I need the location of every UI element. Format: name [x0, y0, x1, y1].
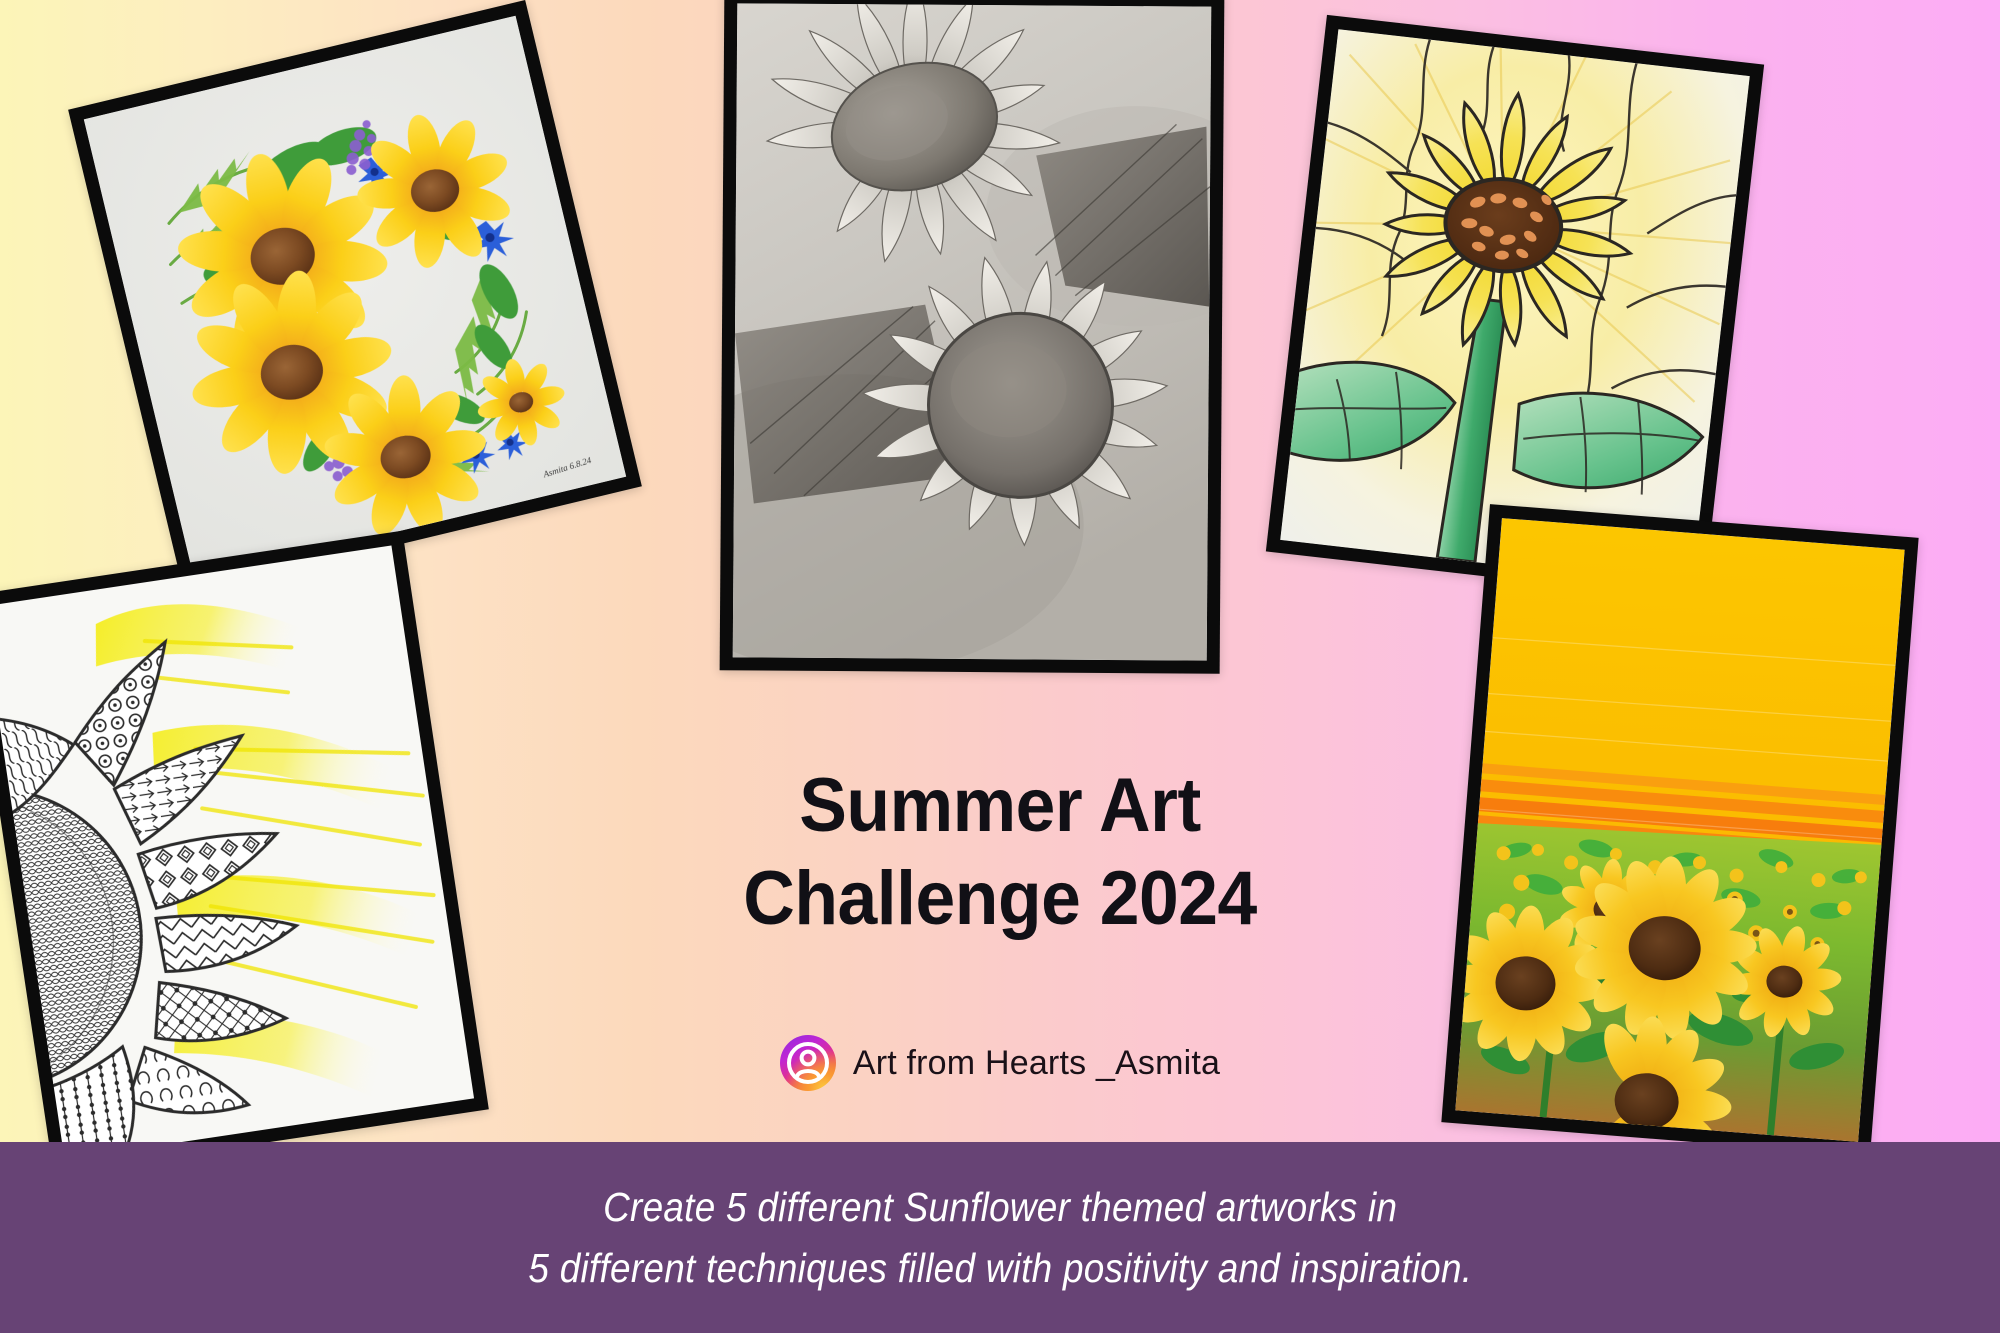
banner-line-1: Create 5 different Sunflower themed artw…	[603, 1180, 1397, 1234]
instagram-profile-icon[interactable]	[780, 1035, 836, 1091]
poster-canvas: Asmita 6.8.24	[0, 0, 2000, 1333]
artwork-charcoal-sunflower-sketch[interactable]	[720, 0, 1225, 674]
credit-handle: Art from Hearts _Asmita	[853, 1044, 1220, 1083]
artwork-zentangle-doodle-sunflower[interactable]	[0, 531, 489, 1175]
artwork-zentangle-doodle-sunflower-image	[0, 545, 474, 1159]
artwork-colored-pencil-stained-glass-sunflower-image	[1280, 29, 1750, 587]
artwork-acrylic-sunflower-field[interactable]	[1441, 504, 1918, 1156]
artwork-charcoal-sunflower-sketch-image	[733, 3, 1212, 660]
banner-line-2: 5 different techniques filled with posit…	[528, 1241, 1472, 1295]
title-line-1: Summer Art	[662, 760, 1339, 853]
title-line-2: Challenge 2024	[662, 853, 1339, 946]
artwork-watercolor-sunflower-wreath-image: Asmita 6.8.24	[84, 16, 626, 581]
poster-title: Summer Art Challenge 2024	[640, 760, 1360, 945]
credit-row[interactable]: Art from Hearts _Asmita	[640, 1035, 1360, 1091]
artwork-acrylic-sunflower-field-image	[1455, 518, 1904, 1142]
artwork-watercolor-sunflower-wreath[interactable]: Asmita 6.8.24	[68, 0, 642, 596]
bottom-banner: Create 5 different Sunflower themed artw…	[0, 1142, 2000, 1333]
